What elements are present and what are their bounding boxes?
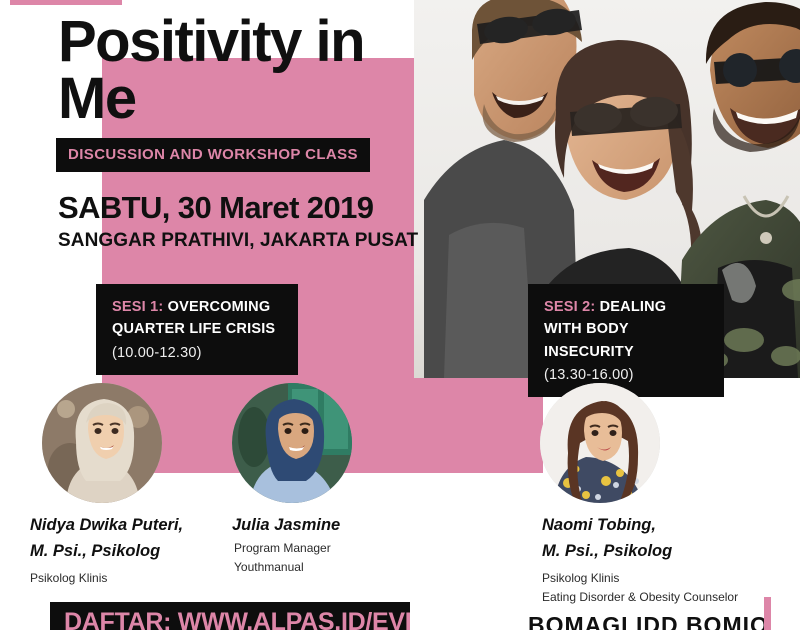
speaker-1-name: Nidya Dwika Puteri,M. Psi., Psikolog: [30, 513, 260, 564]
session-2-heading: SESI 2: DEALING WITH BODY INSECURITY: [544, 296, 708, 363]
speaker-3-avatar: [540, 383, 660, 503]
page-title: Positivity in Me: [58, 14, 398, 128]
speaker-2-name: Julia Jasmine: [232, 513, 452, 539]
speaker-3: Naomi Tobing,M. Psi., Psikolog Psikolog …: [540, 383, 660, 503]
subtitle-strip: DISCUSSION AND WORKSHOP CLASS: [56, 138, 370, 172]
accent-bar-right: [764, 597, 771, 630]
speaker-3-name: Naomi Tobing,M. Psi., Psikolog: [542, 513, 782, 564]
speaker-2-role: Program ManagerYouthmanual: [234, 539, 454, 577]
speaker-1-avatar: [42, 383, 162, 503]
accent-bar-top: [10, 0, 122, 5]
speaker-1: Nidya Dwika Puteri,M. Psi., Psikolog Psi…: [42, 383, 162, 503]
session-1-label: SESI 1:: [112, 299, 163, 315]
poster-canvas: Positivity in Me DISCUSSION AND WORKSHOP…: [0, 0, 800, 630]
session-2-label: SESI 2:: [544, 299, 595, 315]
session-1-time: (10.00-12.30): [112, 345, 282, 361]
event-date: SABTU, 30 Maret 2019: [58, 190, 373, 226]
session-card-2: SESI 2: DEALING WITH BODY INSECURITY (13…: [528, 284, 724, 397]
cta-banner[interactable]: DAFTAR: WWW.ALPAS.ID/EVENT: [50, 602, 410, 630]
session-2-time: (13.30-16.00): [544, 367, 708, 383]
event-venue: SANGGAR PRATHIVI, JAKARTA PUSAT: [58, 230, 418, 252]
speaker-1-role: Psikolog Klinis: [30, 569, 260, 587]
speaker-2: Julia Jasmine Program ManagerYouthmanual: [232, 383, 352, 503]
speaker-3-role: Psikolog KlinisEating Disorder & Obesity…: [542, 569, 792, 607]
session-1-heading: SESI 1: OVERCOMING QUARTER LIFE CRISIS: [112, 296, 282, 341]
cta-label: DAFTAR: WWW.ALPAS.ID/EVENT: [64, 608, 410, 630]
subtitle-strip-label: DISCUSSION AND WORKSHOP CLASS: [68, 146, 358, 163]
speaker-2-avatar: [232, 383, 352, 503]
footer-cutoff-text: BOMAGI IDD BOMIOEN: [528, 612, 764, 630]
session-card-1: SESI 1: OVERCOMING QUARTER LIFE CRISIS (…: [96, 284, 298, 375]
